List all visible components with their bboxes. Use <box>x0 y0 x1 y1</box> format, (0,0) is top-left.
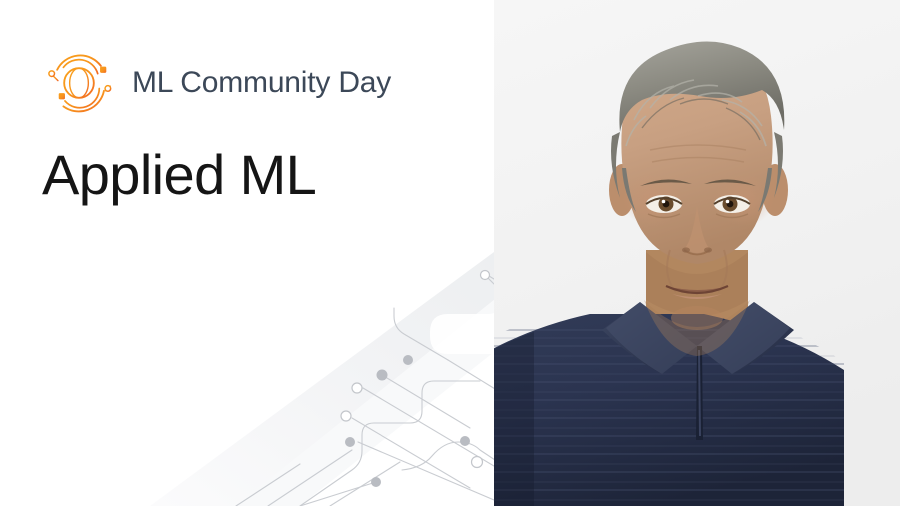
speaker-photo-panel <box>494 0 900 506</box>
speaker-portrait-photo <box>494 0 900 506</box>
circuit-node-hollow-group <box>341 271 490 468</box>
decor-band-group <box>150 252 494 506</box>
brand-lockup: ML Community Day <box>40 44 391 122</box>
left-content-panel: ML Community Day Applied ML <box>0 0 494 506</box>
session-title: Applied ML <box>42 146 316 205</box>
brand-name-text: ML Community Day <box>132 68 391 98</box>
circuit-line-group <box>236 276 494 506</box>
circuit-node-filled-group <box>345 355 470 487</box>
presentation-slide: ML Community Day Applied ML <box>0 0 900 506</box>
globe-orbit-logo-icon <box>40 44 118 122</box>
